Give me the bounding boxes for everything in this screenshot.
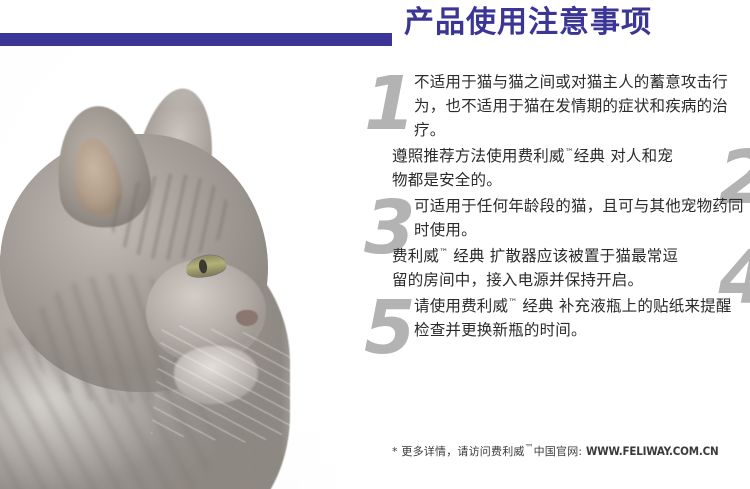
notice-item-text-run: 费利威 [392, 247, 439, 265]
notice-item-text: 不适用于猫与猫之间或对猫主人的蓄意攻击行为，也不适用于猫在发情期的症状和疾病的治… [392, 70, 750, 142]
notice-content-panel: 产品使用注意事项 1不适用于猫与猫之间或对猫主人的蓄意攻击行为，也不适用于猫在发… [392, 0, 750, 489]
footnote-middle: 中国官网: [534, 445, 586, 458]
cat-photo [0, 46, 360, 489]
footnote: * 更多详情，请访问费利威™中国官网: WWW.FELIWAY.COM.CN [392, 443, 750, 459]
notice-item: 4费利威™ 经典 扩散器应该被置于猫最常逗留的房间中，接入电源并保持开启。 [392, 244, 750, 292]
official-website-url: WWW.FELIWAY.COM.CN [586, 444, 718, 458]
notice-item: 3可适用于任何年龄段的猫，且可与其他宠物药同时使用。 [392, 194, 750, 242]
notice-item-text: 请使用费利威™ 经典 补充液瓶上的贴纸来提醒检查并更换新瓶的时间。 [392, 294, 750, 342]
notice-item-number: 1 [364, 70, 414, 138]
notice-item-text: 可适用于任何年龄段的猫，且可与其他宠物药同时使用。 [392, 194, 750, 242]
trademark-icon: ™ [565, 148, 574, 158]
cat-whiskers [151, 324, 322, 450]
cat-illustration [0, 64, 360, 489]
notice-item: 5请使用费利威™ 经典 补充液瓶上的贴纸来提醒检查并更换新瓶的时间。 [392, 294, 750, 342]
notice-item-text-run: 可适用于任何年龄段的猫，且可与其他宠物药同时使用。 [414, 197, 744, 239]
notice-item-text-run: 不适用于猫与猫之间或对猫主人的蓄意攻击行为，也不适用于猫在发情期的症状和疾病的治… [414, 73, 728, 139]
notice-item-text-run: 遵照推荐方法使用费利威 [392, 147, 565, 165]
notice-item-text: 费利威™ 经典 扩散器应该被置于猫最常逗留的房间中，接入电源并保持开启。 [392, 244, 750, 292]
trademark-icon: ™ [508, 298, 517, 308]
notice-list: 1不适用于猫与猫之间或对猫主人的蓄意攻击行为，也不适用于猫在发情期的症状和疾病的… [392, 70, 750, 344]
notice-item: 2遵照推荐方法使用费利威™经典 对人和宠物都是安全的。 [392, 144, 750, 192]
product-usage-notice-poster: 产品使用注意事项 1不适用于猫与猫之间或对猫主人的蓄意攻击行为，也不适用于猫在发… [0, 0, 750, 489]
page-title: 产品使用注意事项 [404, 8, 652, 38]
notice-item-text-run: 请使用费利威 [414, 297, 508, 315]
footnote-prefix: * 更多详情，请访问费利威 [392, 445, 525, 458]
notice-item: 1不适用于猫与猫之间或对猫主人的蓄意攻击行为，也不适用于猫在发情期的症状和疾病的… [392, 70, 750, 142]
notice-item-number: 5 [364, 294, 414, 362]
notice-item-text: 遵照推荐方法使用费利威™经典 对人和宠物都是安全的。 [392, 144, 750, 192]
purple-rule [0, 33, 392, 46]
trademark-icon: ™ [439, 248, 448, 258]
trademark-icon: ™ [525, 443, 534, 453]
cat-photo-panel [0, 0, 360, 489]
purple-rule-fill [0, 33, 392, 46]
